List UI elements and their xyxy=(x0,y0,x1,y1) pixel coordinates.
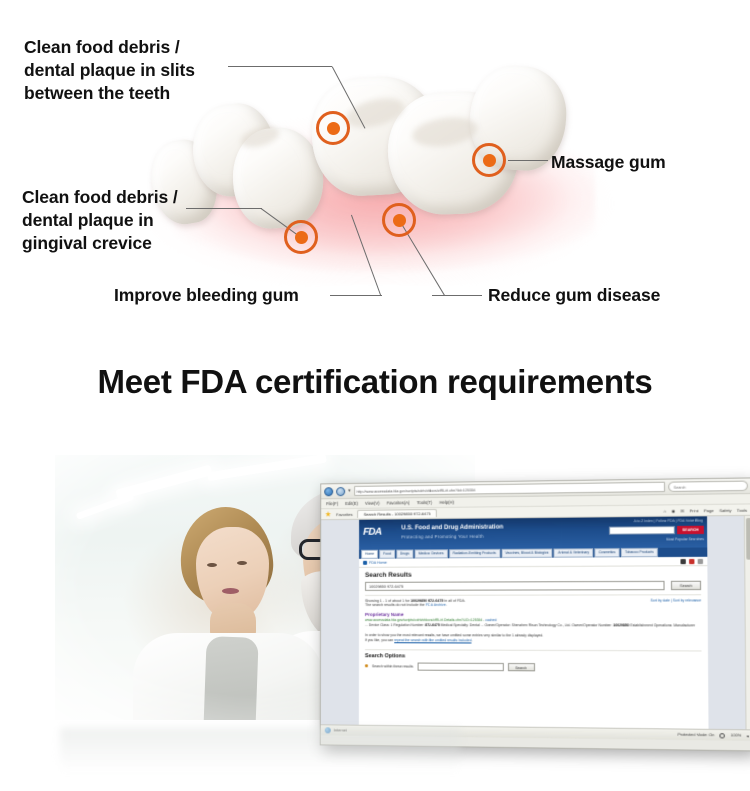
menu-tools[interactable]: Tools(T) xyxy=(417,500,432,505)
fda-top-links[interactable]: A to Z Index | Follow FDA | FDA Voice Bl… xyxy=(634,518,703,523)
fda-content: Search Results 10029850 972-6475 Search … xyxy=(359,566,708,676)
result-item[interactable]: Proprietary Name www.accessdata.fda.gov/… xyxy=(365,612,701,629)
ceiling-light xyxy=(76,493,135,520)
menu-view[interactable]: View(V) xyxy=(365,501,380,506)
nav-tab-home[interactable]: Home xyxy=(361,550,378,559)
menu-favorites[interactable]: Favorites(A) xyxy=(387,500,410,505)
female-scientist-lips xyxy=(222,588,239,594)
protected-mode-label: Protected Mode: On xyxy=(678,733,715,738)
sort-links[interactable]: Sort by date | Sort by relevance xyxy=(650,598,701,602)
snippet-regulation-number: 872-6475 xyxy=(425,624,440,628)
snippet-suffix: Establishment Operations: Manufacturer xyxy=(629,624,695,628)
bullet-icon xyxy=(365,664,368,667)
status-right[interactable]: Protected Mode: On 100% ▾ xyxy=(678,732,749,738)
fda-page: FDA U.S. Food and Drug Administration Pr… xyxy=(359,516,709,728)
breadcrumb-label[interactable]: FDA Home xyxy=(369,561,387,565)
search-button[interactable]: Search xyxy=(671,581,701,590)
nav-tab-tobacco-products[interactable]: Tobacco Products xyxy=(621,548,658,558)
label-clean-debris-crevice: Clean food debris / dental plaque in gin… xyxy=(22,186,178,254)
result-url: www.accessdata.fda.gov/scripts/cdrh/cfdo… xyxy=(365,618,701,623)
marker-slits xyxy=(316,111,350,145)
nav-tab-food[interactable]: Food xyxy=(379,550,395,559)
result-url-text: www.accessdata.fda.gov/scripts/cdrh/cfdo… xyxy=(365,618,485,622)
share-icon[interactable] xyxy=(698,558,703,563)
back-button[interactable] xyxy=(324,487,333,496)
fda-search-button[interactable]: SEARCH xyxy=(677,526,704,535)
nav-tab-cosmetics[interactable]: Cosmetics xyxy=(594,548,619,557)
menu-file[interactable]: File(F) xyxy=(326,501,338,506)
nav-tab-radiation-products[interactable]: Radiation-Emitting Products xyxy=(449,549,500,558)
label-improve-bleeding-gum: Improve bleeding gum xyxy=(114,284,299,307)
page-left-margin xyxy=(321,520,359,725)
safety-menu[interactable]: Safety xyxy=(719,507,731,512)
result-snippet: ... Device Class: 1 Regulation Number: 8… xyxy=(365,623,701,628)
female-scientist-eye xyxy=(237,561,247,565)
photo-panel: ▾ http://www.accessdata.fda.gov/scripts/… xyxy=(0,440,750,791)
label-massage-gum: Massage gum xyxy=(551,151,666,174)
forward-button[interactable] xyxy=(336,487,345,496)
snippet-prefix: ... Device Class: 1 Regulation Number: xyxy=(365,623,425,627)
home-icon[interactable]: ⌂ xyxy=(664,508,667,513)
vertical-scrollbar[interactable] xyxy=(744,516,750,729)
browser-viewport: FDA U.S. Food and Drug Administration Pr… xyxy=(321,516,750,729)
female-scientist-lapel xyxy=(203,636,258,734)
archive-note-suffix: . xyxy=(446,603,447,607)
browser-window[interactable]: ▾ http://www.accessdata.fda.gov/scripts/… xyxy=(320,477,750,751)
fda-logo[interactable]: FDA xyxy=(363,527,381,538)
leader-line-massage xyxy=(508,160,548,161)
page-right-margin xyxy=(707,516,745,729)
ceiling-light xyxy=(207,454,327,482)
heading-panel: Meet FDA certification requirements xyxy=(0,345,750,440)
search-within-button[interactable]: Search xyxy=(507,663,534,671)
female-scientist-eye xyxy=(207,563,217,567)
search-options-heading: Search Options xyxy=(365,649,702,661)
mail-icon[interactable]: ✉ xyxy=(681,508,685,513)
search-results-heading: Search Results xyxy=(365,570,701,579)
nav-tab-medical-devices[interactable]: Medical Devices xyxy=(414,549,447,558)
nav-tab-drugs[interactable]: Drugs xyxy=(396,549,413,558)
nav-tab-animal-veterinary[interactable]: Animal & Veterinary xyxy=(554,548,594,557)
feeds-icon[interactable]: ◉ xyxy=(671,508,675,513)
menu-help[interactable]: Help(H) xyxy=(439,500,454,505)
star-icon[interactable] xyxy=(325,511,331,517)
omitted-note-line1: In order to show you the most relevant r… xyxy=(365,633,543,637)
nav-tab-vaccines-blood[interactable]: Vaccines, Blood & Biologics xyxy=(501,549,553,559)
pdf-icon[interactable] xyxy=(689,558,694,563)
scrollbar-thumb[interactable] xyxy=(746,518,750,560)
address-bar[interactable]: http://www.accessdata.fda.gov/scripts/cd… xyxy=(354,482,665,496)
leader-line-improve xyxy=(330,295,382,296)
page-root: Clean food debris / dental plaque in sli… xyxy=(0,0,750,791)
label-clean-debris-slits: Clean food debris / dental plaque in sli… xyxy=(24,36,195,104)
search-within-label: Search within these results xyxy=(372,664,413,668)
repeat-search-link[interactable]: repeat the search with the omitted resul… xyxy=(394,638,471,642)
fda-masthead: FDA U.S. Food and Drug Administration Pr… xyxy=(359,516,707,549)
favorites-label[interactable]: Favorites xyxy=(336,511,352,516)
omitted-note-suffix: . xyxy=(471,638,472,642)
home-icon xyxy=(363,561,367,565)
print-icon[interactable]: Print xyxy=(689,508,698,513)
tools-menu[interactable]: Tools xyxy=(737,507,747,512)
marker-reduce xyxy=(382,203,416,237)
fda-search-input[interactable] xyxy=(609,526,675,535)
leader-line-crevice xyxy=(186,208,262,209)
snippet-mid: Medical Specialty: Dental ... Owner/Oper… xyxy=(440,624,613,628)
snippet-operator-number: 10029850 xyxy=(613,624,629,628)
browser-tab[interactable]: Search Results - 10029850 972-6475 xyxy=(358,509,437,518)
marker-massage xyxy=(472,143,506,177)
photo-reflection xyxy=(60,728,460,772)
label-reduce-gum-disease: Reduce gum disease xyxy=(488,284,660,307)
chevron-down-icon[interactable]: ▾ xyxy=(348,488,351,494)
fda-agency-title: U.S. Food and Drug Administration xyxy=(401,524,503,531)
tooth-diagram-panel: Clean food debris / dental plaque in sli… xyxy=(0,0,750,345)
search-within-input[interactable] xyxy=(417,662,503,671)
search-row[interactable]: 10029850 972-6475 Search xyxy=(365,581,701,591)
omitted-note-prefix: If you like, you can xyxy=(365,638,394,642)
browser-search-box[interactable]: Search xyxy=(668,481,748,492)
chevron-down-icon[interactable]: ▾ xyxy=(747,733,749,738)
marker-crevice xyxy=(284,220,318,254)
menu-edit[interactable]: Edit(E) xyxy=(345,501,358,506)
result-title-link[interactable]: Proprietary Name xyxy=(365,612,701,617)
leader-line-reduce xyxy=(432,295,482,296)
zoom-level[interactable]: 100% xyxy=(731,733,742,737)
results-meta: Showing 1 - 1 of about 1 for 10029850 97… xyxy=(365,594,701,607)
zoom-icon[interactable] xyxy=(720,733,725,738)
omitted-results-note: In order to show you the most relevant r… xyxy=(365,633,701,644)
search-options-row[interactable]: Search within these results Search xyxy=(365,662,702,672)
archive-note-link[interactable]: FDA Archive xyxy=(426,603,446,607)
search-input[interactable]: 10029850 972-6475 xyxy=(365,581,665,591)
leader-line-slits xyxy=(228,66,332,67)
archive-note-prefix: The search results do not include the xyxy=(365,603,426,607)
page-title: Meet FDA certification requirements xyxy=(0,363,750,401)
result-cached-link[interactable]: cached xyxy=(485,618,496,622)
fda-popular-searches-label[interactable]: Most Popular Searches xyxy=(666,537,704,541)
page-menu[interactable]: Page xyxy=(704,507,714,512)
browser-tool-icons[interactable]: ⌂ ◉ ✉ Print Page Safety Tools xyxy=(664,507,748,513)
fda-agency-tagline: Protecting and Promoting Your Health xyxy=(401,534,483,540)
print-icon[interactable] xyxy=(680,558,685,563)
page-action-icons[interactable] xyxy=(680,558,703,563)
